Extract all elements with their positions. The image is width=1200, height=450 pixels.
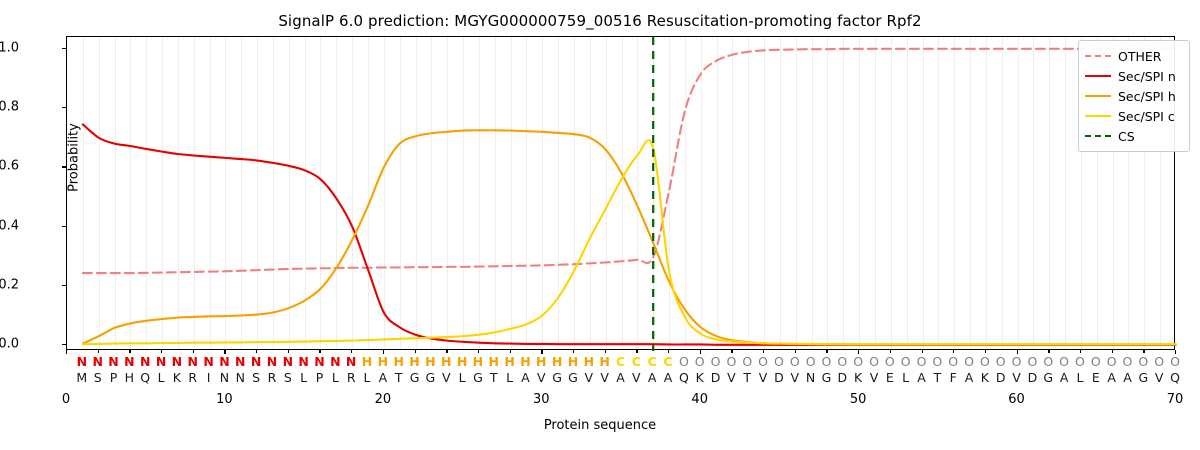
legend: OTHERSec/SPI nSec/SPI hSec/SPI cCS (1078, 40, 1190, 152)
x-tick-mark-minor (478, 350, 479, 353)
y-tick-label: 0.4 (0, 218, 19, 233)
x-tick-mark-minor (288, 350, 289, 353)
x-tick-label: 60 (997, 392, 1037, 407)
legend-swatch-sec-spi-h (1085, 95, 1111, 97)
legend-item[interactable]: CS (1085, 126, 1183, 146)
x-tick-mark-minor (763, 350, 764, 353)
x-tick-mark-minor (890, 350, 891, 353)
y-tick-mark (62, 226, 66, 227)
y-tick-label: 0.6 (0, 159, 19, 174)
y-tick-label: 0.8 (0, 100, 19, 115)
x-tick-mark-minor (1080, 350, 1081, 353)
x-tick-mark-minor (98, 350, 99, 353)
legend-swatch-sec-spi-c (1085, 115, 1111, 117)
series-line-other (83, 49, 1176, 273)
x-tick-mark-minor (129, 350, 130, 353)
x-tick-mark-minor (415, 350, 416, 353)
y-tick-label: 1.0 (0, 40, 19, 55)
region-label-o: O (1165, 354, 1185, 370)
legend-label: CS (1118, 129, 1135, 144)
legend-swatch-sec-spi-n (1085, 75, 1111, 77)
signalp-chart-figure: SignalP 6.0 prediction: MGYG000000759_00… (0, 0, 1200, 450)
legend-label: OTHER (1118, 49, 1161, 64)
curve-layer (67, 37, 1176, 351)
x-tick-mark-major (66, 350, 67, 354)
y-axis-label: Probability (67, 78, 82, 238)
x-tick-mark-minor (1143, 350, 1144, 353)
legend-label: Sec/SPI n (1118, 69, 1176, 84)
plot-area (66, 36, 1175, 350)
series-line-sec-spi-h (83, 130, 1176, 344)
x-tick-mark-minor (510, 350, 511, 353)
x-tick-label: 10 (204, 392, 244, 407)
x-tick-mark-minor (256, 350, 257, 353)
x-tick-mark-minor (731, 350, 732, 353)
x-tick-mark-minor (922, 350, 923, 353)
x-tick-mark-minor (668, 350, 669, 353)
x-tick-mark-minor (953, 350, 954, 353)
y-tick-mark (62, 285, 66, 286)
x-tick-mark-minor (605, 350, 606, 353)
legend-item[interactable]: OTHER (1085, 46, 1183, 66)
x-tick-mark-minor (985, 350, 986, 353)
y-tick-mark (62, 344, 66, 345)
x-tick-mark-minor (573, 350, 574, 353)
y-tick-mark (62, 166, 66, 167)
y-tick-label: 0.2 (0, 277, 19, 292)
x-tick-mark-minor (1112, 350, 1113, 353)
residue-label: Q (1165, 370, 1185, 386)
x-tick-mark-minor (319, 350, 320, 353)
x-tick-mark-minor (826, 350, 827, 353)
x-tick-mark-minor (351, 350, 352, 353)
x-tick-mark-minor (1048, 350, 1049, 353)
legend-item[interactable]: Sec/SPI h (1085, 86, 1183, 106)
x-tick-label: 50 (838, 392, 878, 407)
page-title: SignalP 6.0 prediction: MGYG000000759_00… (0, 12, 1200, 30)
x-tick-label: 30 (521, 392, 561, 407)
y-tick-mark (62, 48, 66, 49)
x-tick-label: 20 (363, 392, 403, 407)
x-tick-label: 0 (46, 392, 86, 407)
series-line-sec-spi-c (83, 140, 1176, 344)
legend-item[interactable]: Sec/SPI n (1085, 66, 1183, 86)
legend-swatch-cs (1085, 135, 1111, 137)
series-line-sec-spi-n (83, 124, 1176, 344)
x-tick-mark-minor (636, 350, 637, 353)
x-tick-label: 70 (1155, 392, 1195, 407)
legend-item[interactable]: Sec/SPI c (1085, 106, 1183, 126)
x-tick-mark-minor (446, 350, 447, 353)
x-tick-mark-minor (795, 350, 796, 353)
legend-swatch-other (1085, 55, 1111, 57)
x-tick-label: 40 (680, 392, 720, 407)
y-tick-label: 0.0 (0, 337, 19, 352)
x-tick-mark-minor (193, 350, 194, 353)
y-tick-mark (62, 107, 66, 108)
legend-label: Sec/SPI c (1118, 109, 1175, 124)
x-axis-label: Protein sequence (0, 418, 1200, 433)
x-tick-mark-minor (161, 350, 162, 353)
legend-label: Sec/SPI h (1118, 89, 1176, 104)
